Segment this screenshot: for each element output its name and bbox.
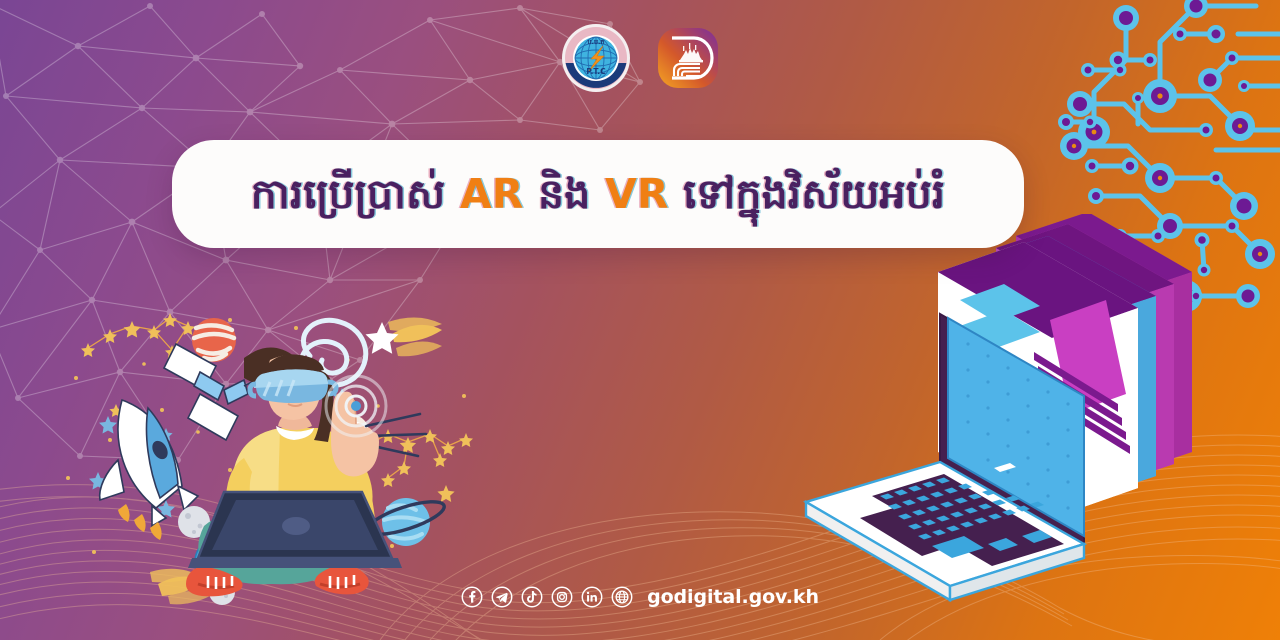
page-title: ការប្រើប្រាស់ AR និង VR ទៅក្នុងវិស័យអប់រ… [251, 174, 945, 215]
facebook-icon[interactable] [461, 586, 483, 608]
title-ar: AR [460, 170, 524, 218]
footer-bar: godigital.gov.kh [0, 586, 1280, 608]
ptc-logo: ប.ប.ភ P.T.C [560, 22, 632, 94]
telegram-icon[interactable] [491, 586, 513, 608]
instagram-icon[interactable] [551, 586, 573, 608]
svg-text:P.T.C: P.T.C [586, 67, 606, 76]
title-card: ការប្រើប្រាស់ AR និង VR ទៅក្នុងវិស័យអប់រ… [172, 140, 1024, 248]
godigital-logo [656, 26, 720, 90]
globe-icon[interactable] [611, 586, 633, 608]
title-prefix: ការប្រើប្រាស់ [251, 170, 446, 218]
title-vr: VR [605, 170, 669, 218]
linkedin-icon[interactable] [581, 586, 603, 608]
website-url[interactable]: godigital.gov.kh [647, 586, 819, 608]
title-middle: និង [538, 170, 590, 218]
tiktok-icon[interactable] [521, 586, 543, 608]
svg-text:ប.ប.ភ: ប.ប.ភ [587, 38, 604, 46]
poster-canvas: ប.ប.ភ P.T.C [0, 0, 1280, 640]
title-suffix: ទៅក្នុងវិស័យអប់រំ [683, 170, 945, 218]
touch-ripple-icon [326, 376, 386, 436]
isometric-laptop-illustration [788, 214, 1208, 624]
planet-jupiter-icon [192, 318, 236, 362]
vr-user-space-illustration [48, 300, 488, 610]
shooting-star-icon [366, 317, 443, 356]
logo-row: ប.ប.ភ P.T.C [0, 22, 1280, 94]
